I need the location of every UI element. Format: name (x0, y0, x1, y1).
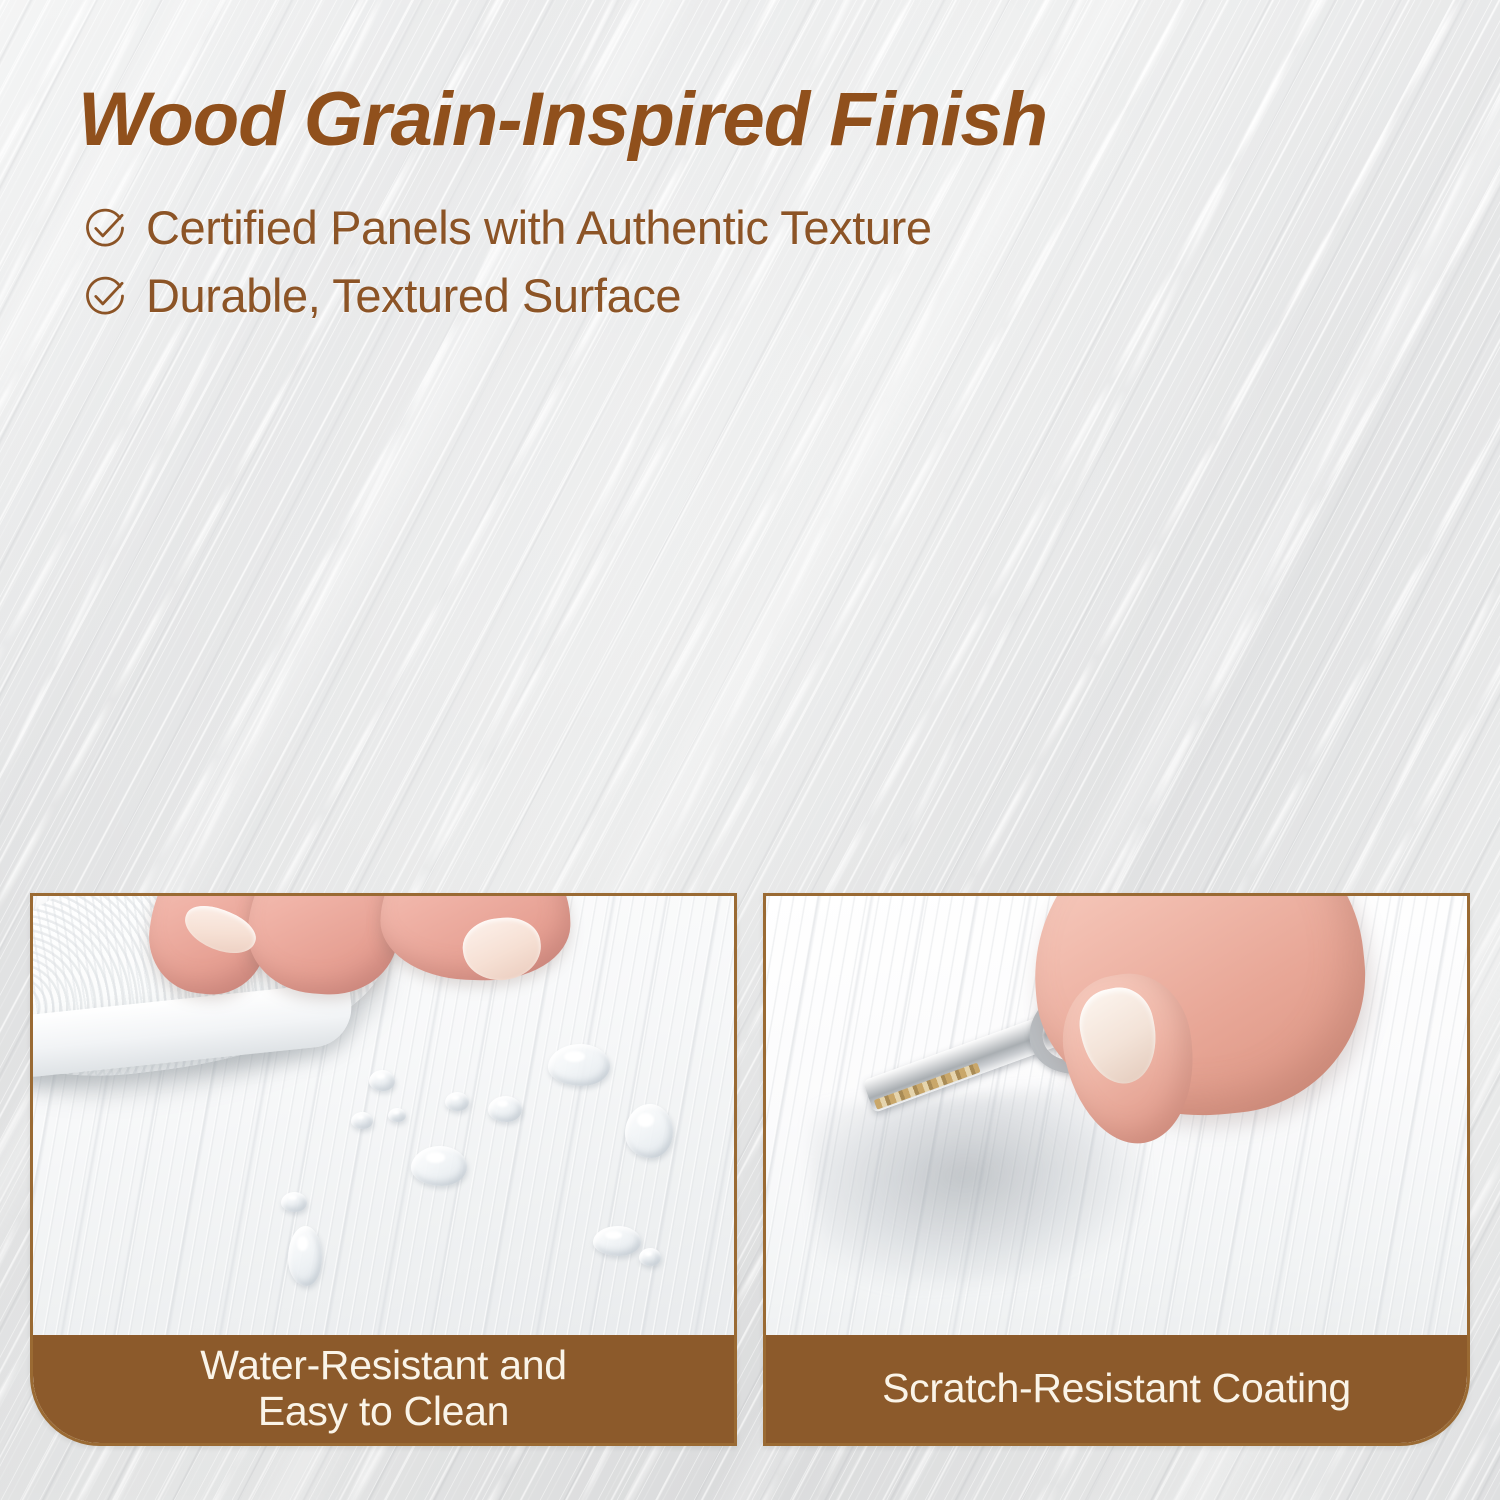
water-droplet (639, 1248, 661, 1266)
header-block: Wood Grain-Inspired Finish Certified Pan… (78, 82, 1278, 337)
check-circle-icon (84, 275, 126, 317)
water-droplet (281, 1192, 307, 1212)
water-droplet (593, 1226, 641, 1256)
water-droplet (411, 1146, 467, 1186)
panel-caption-bar: Scratch-Resistant Coating (766, 1335, 1467, 1443)
panel-caption-bar: Water-Resistant and Easy to Clean (33, 1335, 734, 1443)
check-circle-icon (84, 207, 126, 249)
panel-caption-text: Scratch-Resistant Coating (864, 1366, 1369, 1412)
water-droplet (445, 1092, 469, 1111)
water-droplet (488, 1096, 522, 1122)
feature-bullet-list: Certified Panels with Authentic Texture … (84, 202, 1278, 321)
feature-panel-water-resistant: Water-Resistant and Easy to Clean (30, 893, 737, 1446)
panel-caption-text: Water-Resistant and Easy to Clean (182, 1343, 584, 1435)
page-title: Wood Grain-Inspired Finish (78, 82, 1278, 158)
bullet-label: Certified Panels with Authentic Texture (146, 202, 932, 254)
photo-water-resistant (33, 896, 734, 1335)
feature-panel-scratch-resistant: Scratch-Resistant Coating (763, 893, 1470, 1446)
water-droplet (388, 1108, 406, 1122)
list-item: Certified Panels with Authentic Texture (84, 202, 1278, 254)
list-item: Durable, Textured Surface (84, 270, 1278, 322)
water-droplet (351, 1112, 373, 1129)
bullet-label: Durable, Textured Surface (146, 270, 681, 322)
water-droplet (288, 1226, 322, 1286)
water-droplet (625, 1104, 673, 1158)
product-feature-infographic: Wood Grain-Inspired Finish Certified Pan… (0, 0, 1500, 1500)
photo-scratch-resistant (766, 896, 1467, 1335)
feature-panel-row: Water-Resistant and Easy to Clean Scratc… (30, 893, 1470, 1446)
water-droplet (548, 1044, 610, 1086)
water-droplet (369, 1070, 395, 1091)
